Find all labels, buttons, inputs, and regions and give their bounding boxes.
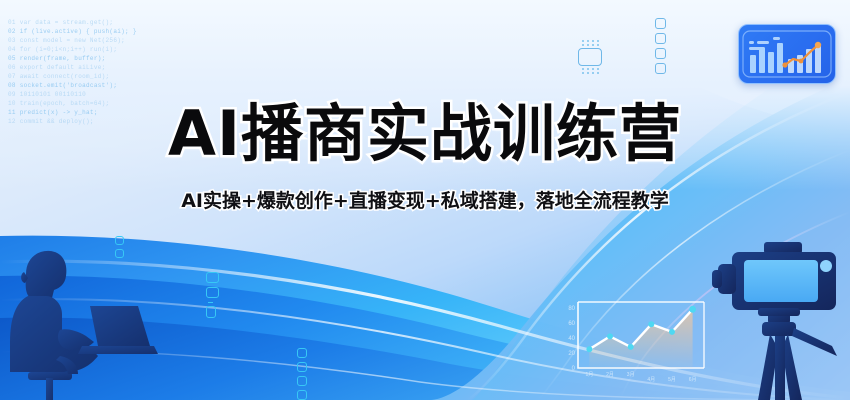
mini-line-chart: 020406080 1月2月3月4月5月6月 [556, 296, 716, 394]
chart-x-tick: 1月 [586, 372, 594, 378]
background-code-text: 01 var data = stream.get();02 if (live.a… [8, 18, 158, 126]
chart-x-tick: 3月 [627, 372, 635, 378]
chart-x-tick: 4月 [647, 377, 655, 383]
person-at-laptop-silhouette [2, 238, 162, 400]
square-stack-decor-top [655, 18, 666, 78]
chart-y-tick: 60 [568, 321, 575, 327]
chart-y-tick: 40 [568, 336, 575, 342]
chart-x-tick: 6月 [689, 377, 697, 383]
chart-x-tick: 2月 [606, 372, 614, 378]
camera-tripod-silhouette [706, 236, 850, 400]
poster-canvas: 01 var data = stream.get();02 if (live.a… [0, 0, 850, 400]
bar-chart-icon [739, 25, 835, 83]
brand-logo-badge [738, 24, 836, 84]
chart-svg: 020406080 1月2月3月4月5月6月 [556, 296, 716, 394]
square-stack-decor-binary [297, 348, 307, 400]
chart-data-point [607, 333, 613, 339]
chart-data-point [628, 344, 634, 350]
chart-y-tick: 80 [568, 306, 575, 312]
cpu-chip-icon [578, 38, 602, 76]
chart-y-tick: 20 [568, 351, 575, 357]
chart-data-point [648, 321, 654, 327]
chart-y-tick: 0 [572, 366, 576, 372]
chart-data-point [689, 306, 696, 313]
chart-x-tick: 5月 [668, 377, 676, 383]
chart-data-point [669, 329, 675, 335]
page-subtitle: AI实操+爆款创作+直播变现+私域搭建，落地全流程教学 [0, 186, 850, 213]
square-stack-decor-wave [206, 272, 219, 322]
chart-data-point [586, 346, 592, 352]
